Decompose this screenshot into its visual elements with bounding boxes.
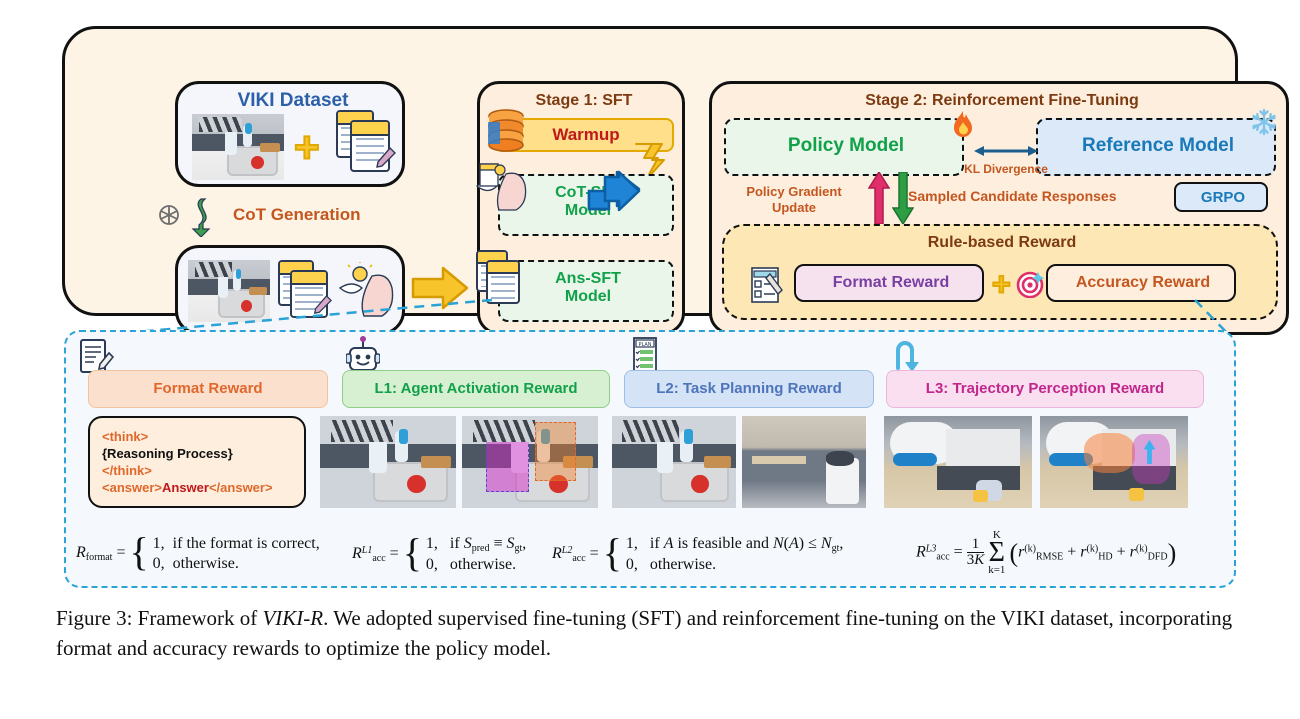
cot-dataset-box [175,245,405,335]
stage1-sft-panel: Stage 1: SFT Warmup [477,81,685,335]
blue-right-arrow-icon [585,169,641,213]
pencil-icon [374,146,396,170]
grpo-label: GRPO [1176,189,1270,206]
formula-format-case1-text: if the format is correct, [173,535,320,552]
code-answer-open-tag: <answer> [102,480,162,495]
accuracy-reward-chip: Accuracy Reward [1046,264,1236,302]
thinking-head-bulb-icon [336,262,398,320]
figure-root: VIKI Dataset + CoT Generation [0,0,1300,719]
sum-lower-limit: k=1 [988,564,1005,576]
clipboard-checklist-icon [748,266,786,306]
code-answer-text: Answer [162,480,209,495]
stage2-title: Stage 2: Reinforcement Fine-Tuning [712,92,1292,110]
column-header-l2-label: L2: Task Planning Reward [625,380,873,397]
l2-scene-closeup-thumbnail [742,416,866,508]
formula-l1-reward: RL1acc = { 1, if Spred ≡ Sgt, 0, otherwi… [352,534,526,575]
format-template-code-block: <think> {Reasoning Process} </think> <an… [88,416,306,508]
formula-l3-reward: RL3acc = 13K KΣk=1 (r(k)RMSE + r(k)HD + … [916,530,1176,576]
code-answer-close-tag: </answer> [209,480,273,495]
l3-scene-trajectory-thumbnail [1040,416,1188,508]
grpo-box: GRPO [1174,182,1268,212]
yellow-right-arrow-icon [411,265,469,311]
policy-gradient-update-label: Policy GradientUpdate [724,184,864,215]
ans-sft-model-box: Ans-SFTModel [498,260,674,322]
format-reward-label: Format Reward [796,274,986,292]
formula-format-reward: Rformat = { 1, if the format is correct,… [76,534,320,573]
code-line-reasoning: {Reasoning Process} [102,445,304,462]
fire-icon [950,110,976,140]
book-head-icon [474,162,532,214]
sampled-candidate-responses-label: Sampled Candidate Responses [908,188,1178,204]
reward-plus-icon: + [992,268,1011,300]
reward-detail-panel: PLAN Format Reward L1: Agent Activation … [64,330,1236,588]
database-icon [486,108,526,154]
target-icon [1016,270,1044,298]
formula-format-case1: 1, [153,535,165,552]
code-line-think-close: </think> [102,462,304,479]
reward-formula-row: Rformat = { 1, if the format is correct,… [66,528,1238,584]
column-header-format-reward: Format Reward [88,370,328,408]
caption-prefix: Figure 3: [56,606,132,630]
ans-sft-model-label: Ans-SFTModel [500,270,676,307]
l1-scene-before-thumbnail [320,416,456,508]
dataset-plus-icon: + [294,126,320,170]
column-header-l1-label: L1: Agent Activation Reward [343,380,609,397]
kitchen-scene-thumbnail [192,114,284,180]
reference-model-box: Reference Model [1036,118,1276,176]
rule-based-reward-title: Rule-based Reward [724,234,1280,252]
hook-arrow-icon [892,338,926,374]
svg-text:PLAN: PLAN [638,342,651,348]
cot-generation-label: CoT Generation [233,205,361,225]
format-reward-chip: Format Reward [794,264,984,302]
snowflake-icon [1250,108,1278,136]
kl-divergence-label: KL Divergence [960,162,1052,176]
column-header-l3: L3: Trajectory Perception Reward [886,370,1204,408]
pencil-icon-2 [312,294,332,316]
formula-format-case2-text: otherwise. [173,555,239,572]
accuracy-reward-label: Accuracy Reward [1048,274,1238,292]
figure-caption: Figure 3: Framework of VIKI-R. We adopte… [56,604,1246,664]
column-header-format-reward-label: Format Reward [89,380,327,397]
policy-gradient-up-arrow-icon [868,172,890,224]
policy-model-label: Policy Model [726,135,966,157]
cot-green-arrow-icon [187,197,215,237]
code-line-answer: <answer>Answer</answer> [102,479,304,496]
policy-model-box: Policy Model [724,118,964,176]
kl-divergence-double-arrow-icon [974,144,1038,158]
code-line-think-open: <think> [102,428,304,445]
plan-checklist-icon: PLAN [632,336,658,374]
stage2-rft-panel: Stage 2: Reinforcement Fine-Tuning Polic… [709,81,1289,335]
formula-l2-reward: RL2acc = { 1, if A is feasible and N(A) … [552,534,843,575]
viki-dataset-title: VIKI Dataset [178,90,408,112]
column-header-l3-label: L3: Trajectory Perception Reward [887,380,1203,397]
caption-part1: Framework of [132,606,262,630]
l1-scene-highlighted-thumbnail [462,416,598,508]
column-header-l2: L2: Task Planning Reward [624,370,874,408]
formula-format-case2: 0, [153,555,165,572]
caption-emphasis: VIKI-R [262,606,323,630]
l2-scene-overview-thumbnail [612,416,736,508]
viki-dataset-box: VIKI Dataset + [175,81,405,187]
rule-based-reward-box: Rule-based Reward Format Reward + [722,224,1278,320]
column-header-l1: L1: Agent Activation Reward [342,370,610,408]
kitchen-scene-thumbnail-2 [188,260,270,322]
reference-model-label: Reference Model [1038,135,1278,157]
openai-logo-icon [155,201,183,229]
l3-scene-before-thumbnail [884,416,1032,508]
document-icon-ans-front [486,260,520,304]
framework-top-panel: VIKI Dataset + CoT Generation [62,26,1238,316]
